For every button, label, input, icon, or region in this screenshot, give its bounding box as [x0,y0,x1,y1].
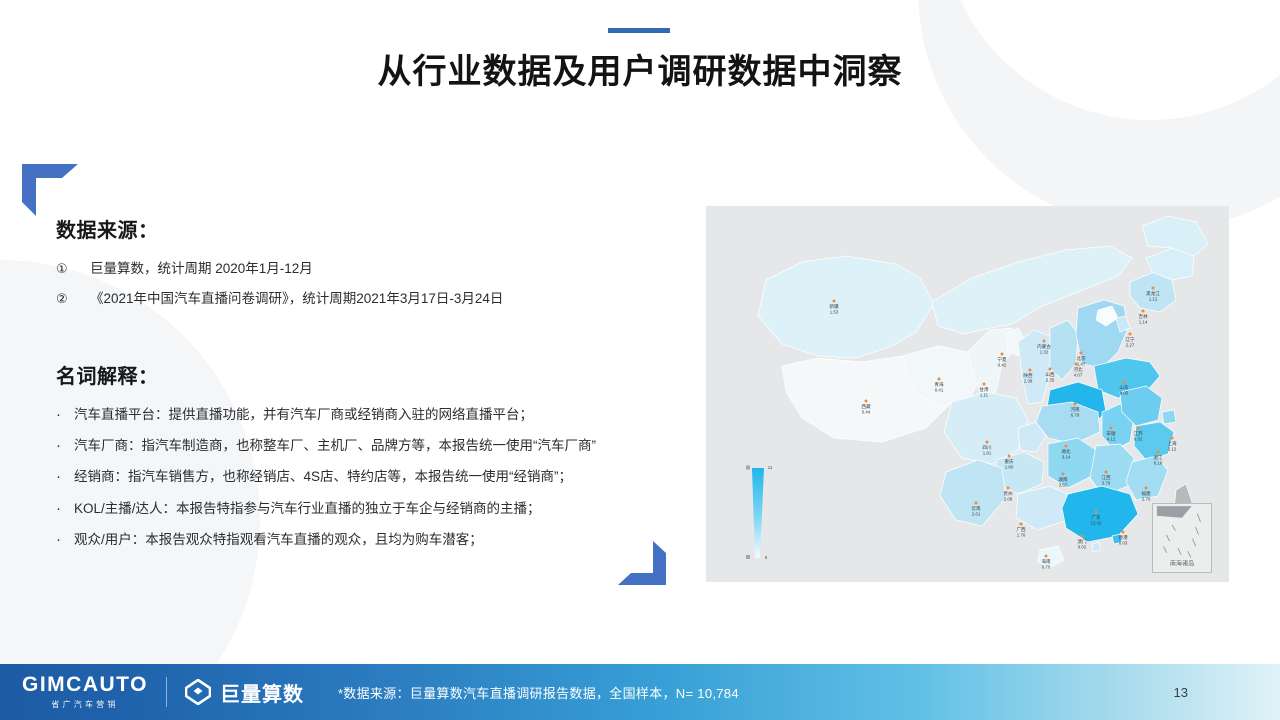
svg-text:0.02: 0.02 [1078,545,1087,550]
svg-text:2.12: 2.12 [1168,447,1177,452]
svg-text:河南: 河南 [1070,406,1080,412]
map-legend: 11 0 [746,465,773,560]
svg-text:2.27: 2.27 [1126,343,1135,348]
ocean-diamond-icon [185,679,211,705]
legend-min-label: 0 [765,555,768,560]
svg-text:1.47: 1.47 [1077,362,1086,367]
svg-text:0.70: 0.70 [1042,565,1051,570]
list-item-text: 汽车直播平台：提供直播功能，并有汽车厂商或经销商入驻的网络直播平台； [74,405,681,425]
svg-text:3.67: 3.67 [1059,483,1068,488]
list-item: · 汽车直播平台：提供直播功能，并有汽车厂商或经销商入驻的网络直播平台； [56,405,681,425]
list-marker: ② [56,289,90,309]
list-item-text: 经销商：指汽车销售方，也称经销店、4S店、特约店等，本报告统一使用“经销商”； [74,467,681,487]
svg-text:2.38: 2.38 [1024,379,1033,384]
svg-text:1.53: 1.53 [830,310,839,315]
footer-divider [166,677,167,707]
list-item: · 观众/用户：本报告观众特指观看汽车直播的观众，且均为购车潜客； [56,530,681,550]
svg-text:1.76: 1.76 [1017,533,1026,538]
svg-text:4.12: 4.12 [1107,437,1116,442]
gimcauto-logo: GIMCAUTO 省广汽车营销 [22,674,148,710]
svg-text:8.05: 8.05 [1120,391,1129,396]
list-item-text: 巨量算数，统计周期 2020年1月-12月 [90,259,681,280]
svg-text:2.70: 2.70 [1142,497,1151,502]
list-item: · 汽车厂商：指汽车制造商，也称整车厂、主机厂、品牌方等，本报告统一使用“汽车厂… [56,436,681,456]
list-item: ① 巨量算数，统计周期 2020年1月-12月 [56,259,681,280]
svg-text:4.07: 4.07 [1074,373,1083,378]
svg-text:1.12: 1.12 [1149,297,1158,302]
list-item-text: 汽车厂商：指汽车制造商，也称整车厂、主机厂、品牌方等，本报告统一使用“汽车厂商” [74,436,681,456]
list-item-text: 观众/用户：本报告观众特指观看汽车直播的观众，且均为购车潜客； [74,530,681,550]
svg-text:四川: 四川 [982,445,992,450]
svg-text:1.81: 1.81 [983,451,992,456]
bullet-icon: · [56,501,74,516]
inset-caption: 南海诸岛 [1143,560,1221,568]
ocean-engine-logo-text: 巨量算数 [220,678,304,707]
svg-text:1.80: 1.80 [1005,465,1014,470]
svg-text:宁夏: 宁夏 [997,356,1007,362]
list-item: · KOL/主播/达人：本报告特指参与汽车行业直播的独立于车企与经销商的主播； [56,499,681,519]
svg-text:3.14: 3.14 [1062,455,1071,460]
svg-text:0.03: 0.03 [1119,541,1128,546]
south-china-sea-inset: 南海诸岛 [1152,503,1212,573]
list-item-text: 《2021年中国汽车直播问卷调研》，统计周期2021年3月17日-3月24日 [90,289,681,310]
footer-source-note: *数据来源：巨量算数汽车直播调研报告数据，全国样本，N= 10,784 [338,683,739,702]
page-number: 13 [1174,685,1188,700]
svg-text:6.18: 6.18 [1154,461,1163,466]
svg-text:12.42: 12.42 [1091,521,1103,526]
ocean-engine-logo: 巨量算数 [185,678,304,707]
svg-text:2.61: 2.61 [972,512,981,517]
corner-bracket-top-left-icon [22,164,78,216]
title-accent-rule [608,28,670,33]
map-svg: 新疆 1.53 西藏 0.44 青海 0.41 甘肃 1.11 [706,206,1229,582]
legend-max-label: 11 [768,465,773,470]
list-marker: ① [56,259,90,279]
bullet-icon: · [56,438,74,453]
terms-heading: 名词解释： [56,360,681,389]
bullet-icon: · [56,532,74,547]
region-label-jilin: 吉林 1.14 [1138,310,1148,325]
svg-text:0.44: 0.44 [862,410,871,415]
svg-text:1.11: 1.11 [980,393,989,398]
data-sources-list: ① 巨量算数，统计周期 2020年1月-12月 ② 《2021年中国汽车直播问卷… [56,259,681,310]
svg-text:0.42: 0.42 [998,363,1007,368]
list-item: ② 《2021年中国汽车直播问卷调研》，统计周期2021年3月17日-3月24日 [56,289,681,310]
svg-text:2.08: 2.08 [1004,497,1013,502]
svg-text:1.14: 1.14 [1139,320,1148,325]
footer-bar: GIMCAUTO 省广汽车营销 巨量算数 *数据来源：巨量算数汽车直播调研报告数… [0,664,1280,720]
bullet-icon: · [56,469,74,484]
svg-text:3.79: 3.79 [1102,481,1111,486]
svg-text:6.32: 6.32 [1134,437,1143,442]
svg-text:0.41: 0.41 [935,388,944,393]
svg-text:2.35: 2.35 [1046,378,1055,383]
page-title: 从行业数据及用户调研数据中洞察 [0,44,1280,93]
slide-root: 从行业数据及用户调研数据中洞察 数据来源： ① 巨量算数，统计周期 2020年1… [0,0,1280,720]
list-item-text: KOL/主播/达人：本报告特指参与汽车行业直播的独立于车企与经销商的主播； [74,499,681,519]
china-choropleth-map[interactable]: 新疆 1.53 西藏 0.44 青海 0.41 甘肃 1.11 [706,206,1229,582]
region-label-liaoning: 辽宁 2.27 [1125,333,1135,348]
bullet-icon: · [56,407,74,422]
list-item: · 经销商：指汽车销售方，也称经销店、4S店、特约店等，本报告统一使用“经销商”… [56,467,681,487]
terms-list: · 汽车直播平台：提供直播功能，并有汽车厂商或经销商入驻的网络直播平台； · 汽… [56,405,681,550]
svg-text:1.32: 1.32 [1040,350,1049,355]
svg-text:6.79: 6.79 [1071,413,1080,418]
gimcauto-logo-subtext: 省广汽车营销 [22,699,148,710]
data-sources-heading: 数据来源： [56,214,681,243]
gimcauto-logo-text: GIMCAUTO [22,674,148,695]
content-column-left: 数据来源： ① 巨量算数，统计周期 2020年1月-12月 ② 《2021年中国… [56,214,681,561]
region-label-guangxi: 广西 1.76 [1016,523,1026,538]
